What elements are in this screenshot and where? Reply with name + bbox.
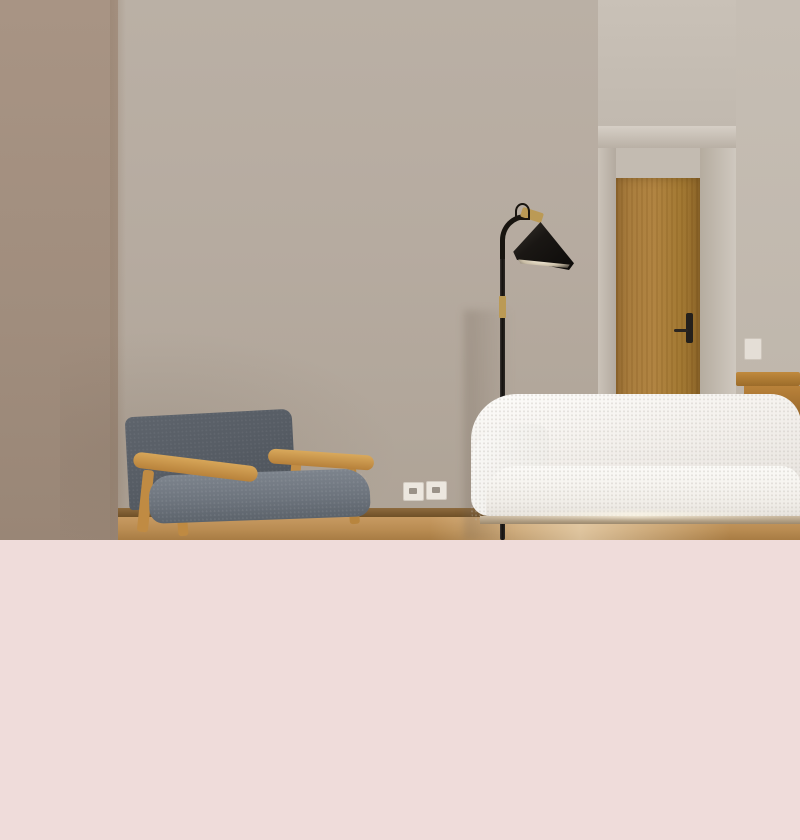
light-switch <box>744 338 762 360</box>
armchair-seat-texture <box>148 468 371 524</box>
lamp-brass-collar <box>499 296 506 318</box>
lamp-loop <box>515 203 530 220</box>
wall-socket-left <box>403 482 424 501</box>
sofa-boucle-texture <box>471 394 800 522</box>
wall-socket-right <box>426 481 447 500</box>
door-jamb-top <box>598 126 736 148</box>
hero-image <box>0 0 800 540</box>
page-root: Integrating a kitchen island: ensuring s… <box>0 0 800 840</box>
side-furniture-top <box>736 372 800 386</box>
door-handle <box>686 313 693 343</box>
door-lever <box>674 329 688 332</box>
sofa-underglow <box>486 512 786 518</box>
info-panel: Integrating a kitchen island: ensuring s… <box>0 540 800 840</box>
